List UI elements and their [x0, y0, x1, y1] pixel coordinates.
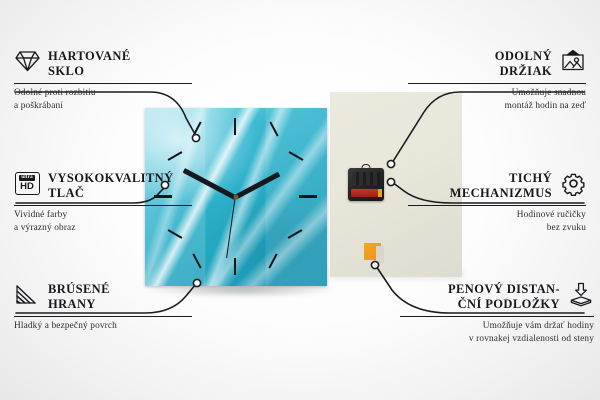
feature-title: ODOLNÝ DRŽIAK [495, 48, 552, 80]
mechanism-label [352, 172, 380, 185]
brushed-edge-icon [14, 281, 40, 307]
hd-badge: ultra HD [15, 172, 40, 195]
feature-description: Umožňuje vám držať hodiny v rovnakej vzd… [400, 320, 594, 346]
hour-marker-3 [299, 195, 317, 198]
ultra-hd-icon: ultra HD [14, 170, 40, 196]
foam-spacer-pad [364, 243, 381, 260]
divider [408, 205, 586, 206]
feature-header: PENOVÝ DISTAN- ČNÍ PODLOŽKY [400, 281, 594, 313]
feature-description: Umožňuje snadnou montáž hodin na zeď [408, 87, 586, 113]
feature-hardened-glass: HARTOVANÉ SKLO Odolné proti rozbitiu a p… [14, 48, 192, 113]
hour-marker-6 [234, 258, 236, 275]
battery [351, 189, 378, 197]
feature-foam-spacers: PENOVÝ DISTAN- ČNÍ PODLOŽKY Umožňuje vám… [400, 281, 594, 346]
divider [400, 316, 594, 317]
feature-title: VYSOKOKVALITNÝ TLAČ [48, 170, 174, 202]
feature-description: Odolné proti rozbitiu a poškrábaní [14, 87, 192, 113]
feature-ground-edges: BRÚSENÉ HRANY Hladký a bezpečný povrch [14, 281, 192, 333]
feature-header: TICHÝ MECHANIZMUS [408, 170, 586, 202]
divider [14, 205, 192, 206]
picture-frame-icon [560, 48, 586, 74]
mechanism-hook-icon [362, 164, 371, 170]
feature-title: TICHÝ MECHANIZMUS [450, 170, 552, 202]
hd-badge-ultra-label: ultra [19, 175, 35, 181]
gear-icon [560, 170, 586, 196]
feature-description: Hodinové ručičky bez zvuku [408, 209, 586, 235]
feature-title: BRÚSENÉ HRANY [48, 281, 110, 313]
feature-header: BRÚSENÉ HRANY [14, 281, 192, 313]
hour-marker-12 [234, 118, 236, 135]
feature-silent-mechanism: TICHÝ MECHANIZMUS Hodinové ručičky bez z… [408, 170, 586, 235]
infographic-canvas: HARTOVANÉ SKLO Odolné proti rozbitiu a p… [0, 0, 600, 400]
divider [14, 316, 192, 317]
feature-header: ultra HD VYSOKOKVALITNÝ TLAČ [14, 170, 192, 202]
diamond-icon [14, 48, 40, 74]
hd-badge-hd-label: HD [20, 182, 34, 192]
feature-title: HARTOVANÉ SKLO [48, 48, 131, 80]
feature-high-quality-print: ultra HD VYSOKOKVALITNÝ TLAČ Vividné far… [14, 170, 192, 235]
battery-terminal [378, 189, 382, 197]
feature-description: Vividné farby a výrazný obraz [14, 209, 192, 235]
clock-mechanism [348, 168, 384, 201]
feature-header: ODOLNÝ DRŽIAK [408, 48, 586, 80]
feature-durable-holder: ODOLNÝ DRŽIAK Umožňuje snadnou montáž ho… [408, 48, 586, 113]
feature-title: PENOVÝ DISTAN- ČNÍ PODLOŽKY [448, 281, 560, 313]
feature-header: HARTOVANÉ SKLO [14, 48, 192, 80]
clock-center-cap [234, 195, 239, 200]
press-layers-icon [568, 281, 594, 307]
divider [408, 83, 586, 84]
divider [14, 83, 192, 84]
feature-description: Hladký a bezpečný povrch [14, 320, 192, 333]
